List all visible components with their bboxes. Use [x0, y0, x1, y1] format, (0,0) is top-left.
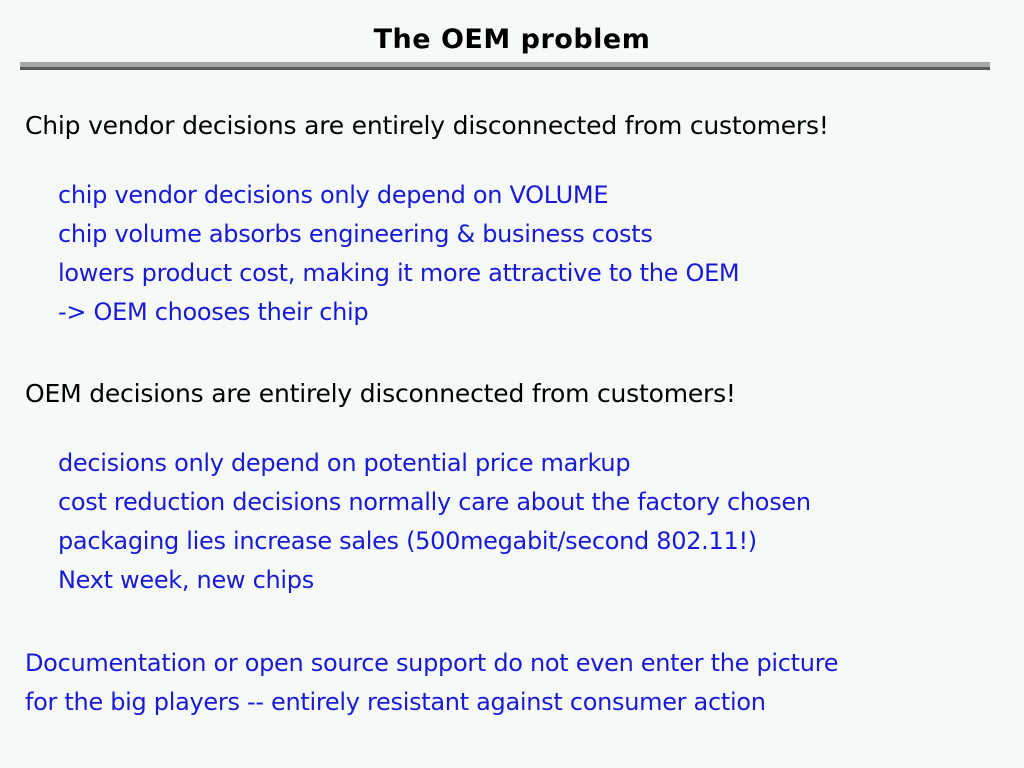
sub-point-cost-reduction-factory: cost reduction decisions normally care a…	[58, 483, 1024, 522]
spacer	[0, 412, 1024, 444]
statement-oem-decisions: OEM decisions are entirely disconnected …	[25, 376, 1024, 412]
spacer	[0, 600, 1024, 644]
page-title: The OEM problem	[0, 24, 1024, 56]
slide-body: Chip vendor decisions are entirely disco…	[0, 108, 1024, 722]
sub-point-chip-vendor-volume: chip vendor decisions only depend on VOL…	[58, 176, 1024, 215]
divider-shadow-band	[20, 67, 990, 70]
closing-line-1: Documentation or open source support do …	[25, 644, 1024, 683]
sub-point-oem-chooses-chip: -> OEM chooses their chip	[58, 293, 1024, 332]
sub-point-chip-volume-costs: chip volume absorbs engineering & busine…	[58, 215, 1024, 254]
sub-point-packaging-lies: packaging lies increase sales (500megabi…	[58, 522, 1024, 561]
statement-chip-vendor: Chip vendor decisions are entirely disco…	[25, 108, 1024, 144]
sub-point-price-markup: decisions only depend on potential price…	[58, 444, 1024, 483]
spacer	[0, 332, 1024, 376]
slide: The OEM problem Chip vendor decisions ar…	[0, 0, 1024, 768]
sub-point-next-week-new-chips: Next week, new chips	[58, 561, 1024, 600]
spacer	[0, 144, 1024, 176]
sub-point-lowers-product-cost: lowers product cost, making it more attr…	[58, 254, 1024, 293]
closing-line-2: for the big players -- entirely resistan…	[25, 683, 1024, 722]
title-divider	[20, 62, 990, 70]
